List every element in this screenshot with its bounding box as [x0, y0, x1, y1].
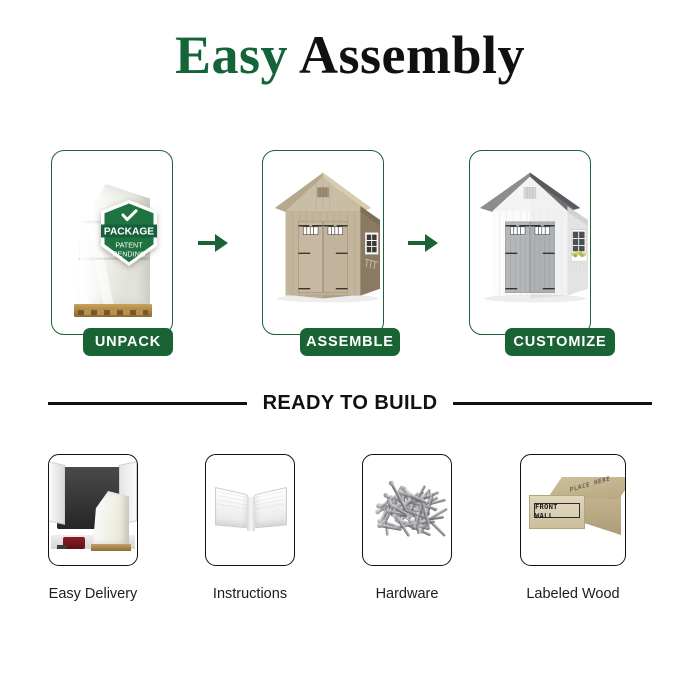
step-card-unpack[interactable]: PACKAGE PATENT PENDING: [51, 150, 173, 335]
open-book-photo: [205, 454, 295, 566]
screws-pile-graphic: [373, 489, 443, 533]
feature-easy-delivery[interactable]: Easy Delivery: [48, 454, 138, 602]
feature-hardware[interactable]: Hardware: [362, 454, 452, 602]
wrapped-pallet: [91, 489, 131, 551]
delivery-truck-photo: [48, 454, 138, 566]
book-page-left: [215, 487, 249, 529]
step-label-unpack: UNPACK: [83, 328, 173, 356]
open-book-graphic: [216, 485, 286, 533]
feature-label-labeled-wood: Labeled Wood: [512, 586, 634, 602]
step-card-customize[interactable]: [469, 150, 591, 335]
book-page-right: [253, 487, 287, 529]
pallet-base: [91, 544, 131, 551]
package-patent-badge: PACKAGE PATENT PENDING: [99, 199, 159, 267]
labeled-lumber-photo: FRONT WALL PLACE HERE: [520, 454, 626, 566]
title-word-assembly: Assembly: [299, 25, 525, 85]
screws-pile-photo: [362, 454, 452, 566]
wooden-pallet-base: [74, 304, 152, 317]
shrink-wrap: [93, 491, 129, 545]
features-row: Easy Delivery Instructions Hardware: [0, 454, 700, 634]
divider-rule-left: [48, 402, 247, 405]
arrow-right-icon: [196, 228, 230, 258]
tan-shed-photo: [263, 151, 383, 333]
white-shed-photo: [470, 151, 590, 333]
divider-rule-right: [453, 402, 652, 405]
feature-labeled-wood[interactable]: FRONT WALL PLACE HERE Labeled Wood: [520, 454, 610, 602]
step-card-assemble[interactable]: [262, 150, 384, 335]
wrapped-pallet-photo: PACKAGE PATENT PENDING: [52, 151, 172, 334]
step-label-customize: CUSTOMIZE: [505, 328, 615, 356]
badge-line1: PATENT: [115, 241, 143, 250]
pallet-jack: [63, 537, 85, 549]
easy-assembly-infographic: Easy Assembly PACKAGE PATENT PENDING: [0, 0, 700, 700]
book-spine: [247, 497, 255, 531]
feature-label-hardware: Hardware: [350, 586, 464, 602]
lumber-front-wall-stamp: FRONT WALL: [534, 503, 580, 518]
lumber-bundle-graphic: FRONT WALL PLACE HERE: [529, 477, 621, 543]
feature-label-easy-delivery: Easy Delivery: [36, 586, 150, 602]
title-word-easy: Easy: [175, 25, 288, 85]
feature-instructions[interactable]: Instructions: [205, 454, 295, 602]
arrow-right-icon: [406, 228, 440, 258]
step-label-assemble: ASSEMBLE: [300, 328, 400, 356]
page-title: Easy Assembly: [0, 24, 700, 86]
ready-to-build-divider: READY TO BUILD: [48, 392, 652, 415]
truck-door-left: [48, 461, 65, 525]
divider-label: READY TO BUILD: [263, 392, 438, 415]
badge-title: PACKAGE: [104, 226, 154, 237]
badge-line2: PENDING: [113, 250, 146, 259]
feature-label-instructions: Instructions: [193, 586, 307, 602]
steps-row: PACKAGE PATENT PENDING: [0, 150, 700, 360]
